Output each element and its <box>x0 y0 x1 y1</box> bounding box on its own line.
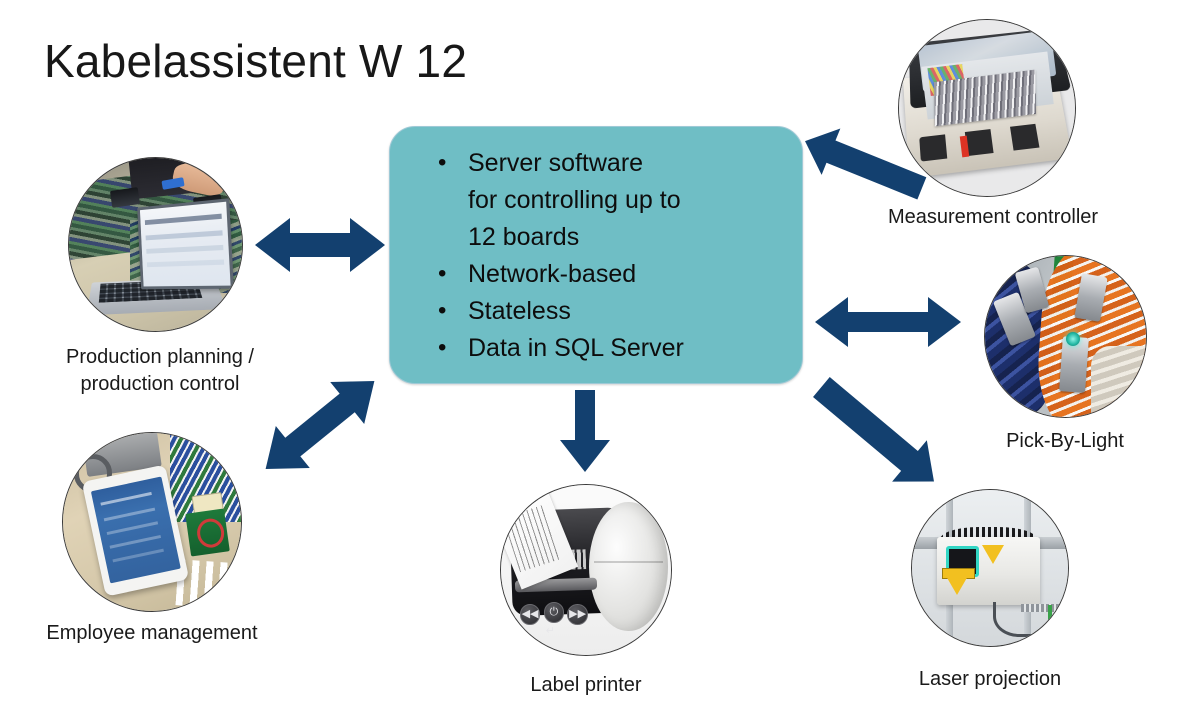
pick-by-light-indicator <box>1066 332 1080 346</box>
green-circuit-board <box>185 509 230 557</box>
caption-pick-by-light: Pick-By-Light <box>975 428 1155 455</box>
photo-laser-projection <box>911 489 1069 647</box>
caption-employee-management: Employee management <box>32 620 272 647</box>
arrow-production-planning <box>255 218 385 272</box>
caption-measurement-controller: Measurement controller <box>868 204 1118 231</box>
tablet-screen <box>91 476 181 583</box>
page-title: Kabelassistent W 12 <box>44 33 467 89</box>
printer-forward-glyph: ▶▶ <box>568 605 587 624</box>
caption-production-planning: Production planning / production control <box>40 344 280 398</box>
server-software-box: Server software for controlling up to 12… <box>389 126 803 384</box>
photo-production-planning <box>68 157 243 332</box>
printer-rewind-glyph: ◀◀ <box>521 605 540 624</box>
arrow-label-printer <box>560 390 610 472</box>
bullet-stateless: Stateless <box>436 293 788 330</box>
printer-label-roll-cover <box>589 502 667 631</box>
bullet-line-2: for controlling up to <box>468 186 681 214</box>
caption-label-printer: Label printer <box>486 672 686 699</box>
gray-cable-bundle <box>1091 346 1147 414</box>
printer-power-button[interactable]: ⏻ <box>544 602 565 623</box>
ground-wire <box>1048 605 1053 639</box>
printer-power-glyph: ⏻ <box>545 603 564 622</box>
caption-laser-projection: Laser projection <box>890 666 1090 693</box>
bullet-network-based: Network-based <box>436 256 788 293</box>
server-software-bullet-list: Server software for controlling up to 12… <box>390 127 802 367</box>
printer-forward-button[interactable]: ▶▶ <box>567 604 588 625</box>
bullet-line-3: 12 boards <box>468 223 579 251</box>
printer-rewind-button[interactable]: ◀◀ <box>520 604 541 625</box>
printer-feed-button[interactable]: ↵ <box>544 624 558 638</box>
arrow-laser-projection <box>804 366 951 502</box>
photo-measurement-controller <box>898 19 1076 197</box>
photo-pick-by-light <box>984 255 1147 418</box>
laser-warning-triangle-lower <box>946 576 968 595</box>
photo-employee-management <box>62 432 242 612</box>
bullet-server-software: Server software for controlling up to 12… <box>436 145 788 256</box>
printer-feed-glyph: ↵ <box>544 624 558 638</box>
arrow-pick-by-light <box>815 297 961 347</box>
photo-label-printer: ◀◀ ⏻ ▶▶ ↵ <box>500 484 672 656</box>
bullet-data-in-sql-server: Data in SQL Server <box>436 330 788 367</box>
laptop-screen <box>137 198 234 289</box>
slide-canvas: Kabelassistent W 12 Server <box>0 0 1178 720</box>
laser-warning-triangle-upper <box>982 545 1004 564</box>
label-printed-text <box>503 504 563 572</box>
bullet-line-1: Server software <box>468 149 643 177</box>
